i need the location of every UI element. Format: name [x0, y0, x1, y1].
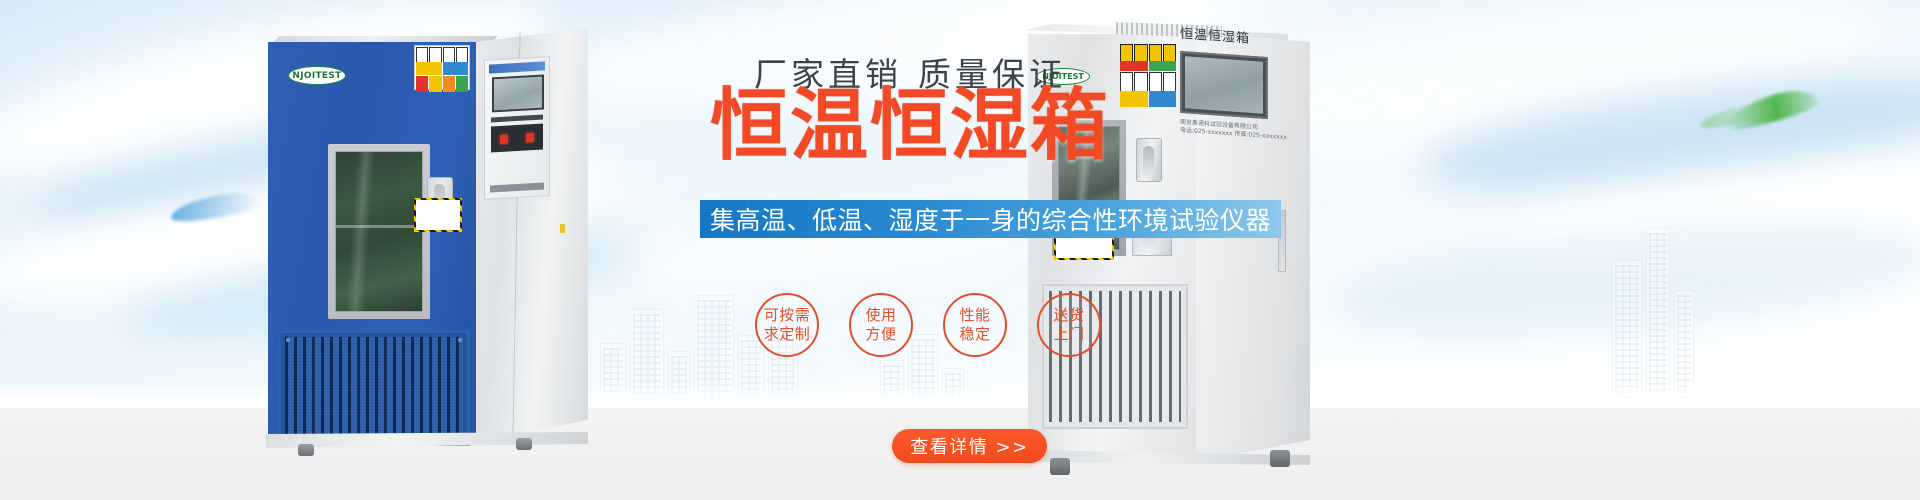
promo-banner: NJOITEST: [0, 0, 1920, 500]
feature-badge-delivery[interactable]: 送货 上门: [1037, 293, 1101, 357]
feature-line-1: 使用: [865, 306, 896, 325]
feature-badge-custom[interactable]: 可按需 求定制: [755, 293, 819, 357]
feature-line-1: 可按需: [764, 306, 811, 325]
feature-badges: 可按需 求定制 使用 方便 性能 稳定 送货 上门: [755, 293, 1101, 357]
feature-line-2: 求定制: [764, 325, 811, 344]
page-title: 恒温恒湿箱: [640, 84, 1180, 168]
feature-line-2: 上门: [1053, 325, 1084, 344]
feature-line-2: 稳定: [959, 325, 990, 344]
banner-copy-block: 厂家直销质量保证 恒温恒湿箱 集高温、低温、湿度于一身的综合性环境试验仪器 可按…: [0, 0, 1920, 500]
feature-line-1: 性能: [959, 306, 990, 325]
feature-line-1: 送货: [1053, 306, 1084, 325]
feature-line-2: 方便: [865, 325, 896, 344]
feature-badge-easy-use[interactable]: 使用 方便: [849, 293, 913, 357]
view-details-button[interactable]: 查看详情 >>: [892, 429, 1047, 463]
subtitle-bar: 集高温、低温、湿度于一身的综合性环境试验仪器: [700, 200, 1281, 238]
feature-badge-stable[interactable]: 性能 稳定: [943, 293, 1007, 357]
